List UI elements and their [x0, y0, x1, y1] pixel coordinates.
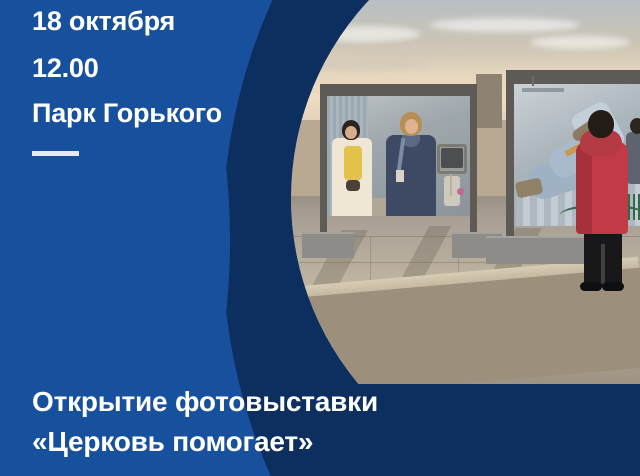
exhibition-panel-left [324, 88, 474, 216]
visitor-head [588, 110, 614, 138]
cloud-icon [310, 26, 420, 42]
poster-title-line2: «Церковь помогает» [32, 426, 313, 458]
visitor-coat-shadow [576, 142, 592, 234]
panel-hook [532, 76, 534, 86]
visitor-shoe [602, 282, 624, 291]
panel-person-face [345, 126, 357, 139]
cloud-icon [360, 44, 550, 56]
panel-person-hands [346, 180, 360, 191]
panel-equipment-knob [457, 188, 464, 195]
panel-person-badge [396, 170, 404, 182]
poster-title-line1: Открытие фотовыставки [32, 386, 378, 418]
background-person-body [626, 132, 640, 184]
event-place: Парк Горького [32, 98, 222, 128]
panel-post [470, 84, 477, 234]
panel-top-beam [506, 70, 640, 76]
panel-monitor-screen [441, 148, 463, 168]
event-time: 12.00 [32, 53, 99, 83]
panel-equipment-pole [450, 174, 452, 196]
panel-person-apron [344, 146, 362, 180]
background-person-head [630, 118, 640, 134]
cloud-icon [530, 36, 630, 49]
panel-post [506, 70, 514, 238]
divider [32, 151, 79, 156]
cloud-icon [430, 18, 580, 32]
exhibition-photo [291, 0, 640, 384]
visitor-shoe [580, 282, 602, 291]
panel-caption [522, 88, 564, 92]
panel-person-face [405, 119, 418, 134]
visitor-leg-gap [601, 244, 605, 284]
panel-base [302, 232, 354, 258]
panel-person-body [386, 135, 436, 216]
event-poster: 18 октября 12.00 Парк Горького Открытие … [0, 0, 640, 476]
photo-content [291, 0, 640, 384]
cloud-icon [291, 60, 430, 70]
building [476, 74, 502, 128]
panel-post [320, 84, 327, 234]
event-date: 18 октября [32, 6, 175, 36]
panel-top-beam [320, 84, 477, 90]
